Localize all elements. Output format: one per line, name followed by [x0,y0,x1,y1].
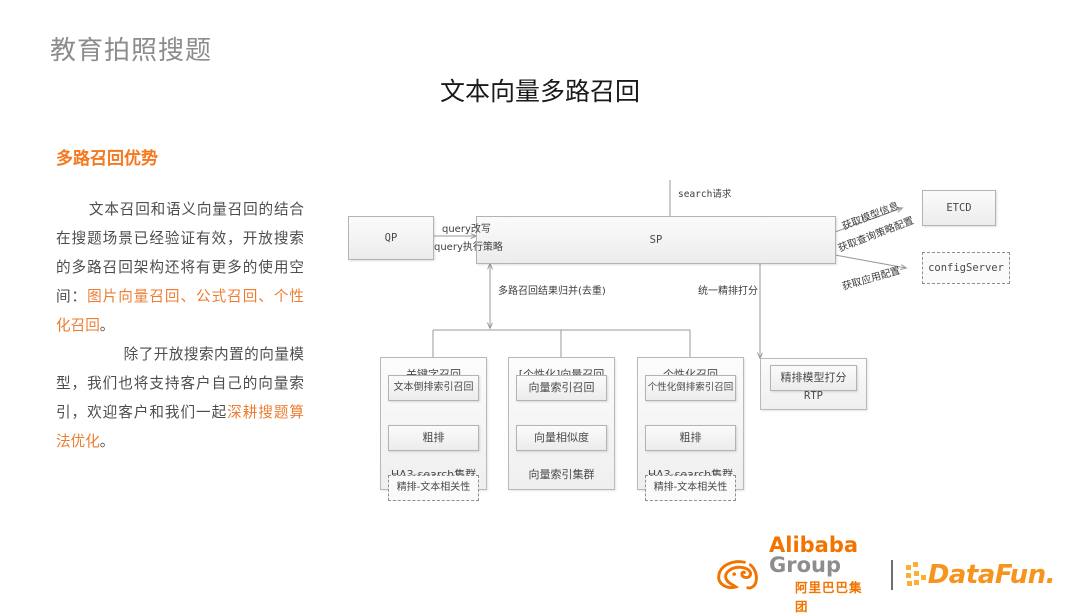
left-text-column: 多路召回优势 文本召回和语义向量召回的结合在搜题场景已经验证有效，开放搜索的多路… [56,144,304,456]
architecture-diagram: QP SP ETCD configServer search请求 query改写… [330,160,1070,560]
step-vector-index-recall[interactable]: 向量索引召回 [516,375,607,401]
alibaba-cn: 阿里巴巴集团 [795,577,875,615]
paragraph-1-highlight: 图片向量召回、公式召回、个性化召回 [56,288,304,334]
step-personalized-inverted-index[interactable]: 个性化倒排索引召回 [645,375,736,401]
paragraph-1-tail: 。 [100,317,115,334]
logo-divider [891,560,893,590]
paragraph-2-tail: 。 [100,433,115,450]
edge-label-unified-rank-score: 统一精排打分 [698,282,758,297]
step-personalized-coarse-rank-label: 粗排 [680,431,702,444]
step-personalized-fine-rank-label: 精排-文本相关性 [654,482,728,494]
step-keyword-inverted-index-label: 文本倒排索引召回 [394,382,474,394]
alibaba-wordmark: Alibaba Group 阿里巴巴集团 [769,535,875,615]
step-keyword-fine-rank[interactable]: 精排-文本相关性 [388,475,479,501]
node-sp-label: SP [650,234,663,247]
node-config-server-label: configServer [928,262,1004,275]
step-rtp-rank-model-score[interactable]: 精排模型打分 [770,365,857,391]
page-title: 教育拍照搜题 [50,30,212,67]
node-etcd-label: ETCD [946,202,971,215]
edge-label-query-strategy: query执行策略 [434,238,503,253]
step-personalized-fine-rank[interactable]: 精排-文本相关性 [645,475,736,501]
paragraph-1: 文本召回和语义向量召回的结合在搜题场景已经验证有效，开放搜索的多路召回架构还将有… [56,195,304,340]
group-vector-recall-footer: 向量索引集群 [509,466,614,482]
datafun-wordmark: DataFun. [928,560,1055,590]
datafun-dots-icon [906,562,928,588]
footer-logos: Alibaba Group 阿里巴巴集团 DataFun. [715,552,1055,598]
step-personalized-coarse-rank[interactable]: 粗排 [645,425,736,451]
node-qp-label: QP [385,232,398,245]
step-vector-index-recall-label: 向量索引召回 [529,381,595,394]
step-keyword-fine-rank-label: 精排-文本相关性 [397,482,471,494]
edge-label-merge-dedup: 多路召回结果归并(去重) [498,282,606,297]
alibaba-en: Alibaba Group [769,535,875,575]
step-vector-similarity-label: 向量相似度 [534,431,589,444]
diagram-title: 文本向量多路召回 [340,72,740,108]
edge-label-search-request: search请求 [678,186,731,200]
paragraph-2: 除了开放搜索内置的向量模型，我们也将支持客户自己的向量索引，欢迎客户和我们一起深… [56,340,304,456]
step-keyword-inverted-index[interactable]: 文本倒排索引召回 [388,375,479,401]
step-rtp-rank-model-score-label: 精排模型打分 [781,371,847,384]
node-sp[interactable]: SP [476,216,836,264]
alibaba-logo-icon [715,558,767,592]
step-personalized-inverted-index-label: 个性化倒排索引召回 [648,382,734,393]
node-etcd[interactable]: ETCD [922,190,996,226]
alibaba-en-grey: Group [769,553,841,577]
node-qp[interactable]: QP [348,216,434,260]
step-vector-similarity[interactable]: 向量相似度 [516,425,607,451]
section-heading: 多路召回优势 [56,144,304,169]
step-keyword-coarse-rank[interactable]: 粗排 [388,425,479,451]
group-rtp-footer: RTP [761,390,866,402]
step-keyword-coarse-rank-label: 粗排 [423,431,445,444]
edge-label-query-rewrite: query改写 [442,220,491,235]
node-config-server[interactable]: configServer [922,252,1010,284]
